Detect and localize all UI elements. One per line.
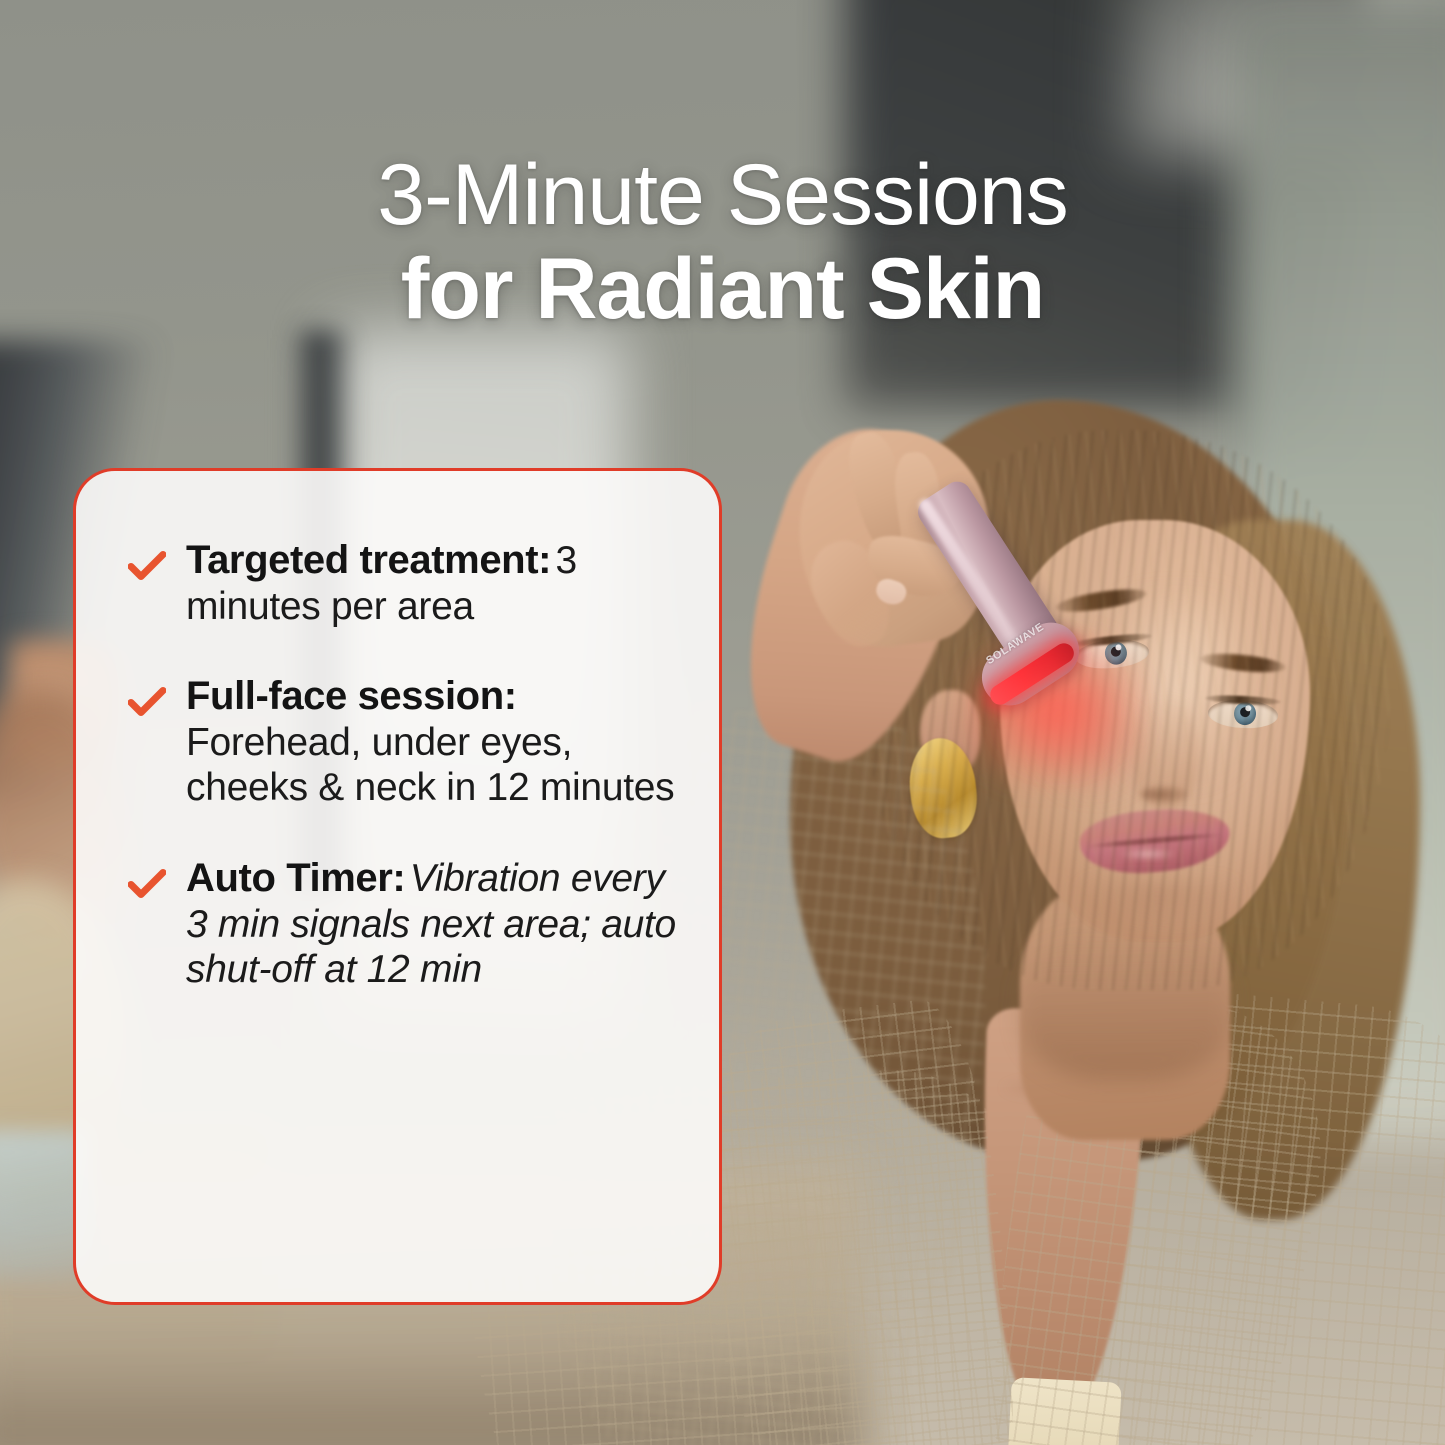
checkmark-icon [128,869,166,899]
feature-text: Targeted treatment: 3 minutes per area [186,537,693,629]
checkmark-icon [128,687,166,717]
feature-item: Targeted treatment: 3 minutes per area [128,537,693,629]
feature-text: Auto Timer: Vibration every 3 min signal… [186,855,693,993]
feature-text: Full-face session: Forehead, under eyes,… [186,673,693,811]
feature-item: Auto Timer: Vibration every 3 min signal… [128,855,693,993]
feature-body: Forehead, under eyes, cheeks & neck in 1… [186,721,674,810]
feature-item: Full-face session: Forehead, under eyes,… [128,673,693,811]
feature-title: Targeted treatment: [186,538,551,582]
feature-title: Auto Timer: [186,856,405,900]
headline-line-2: for Radiant Skin [0,245,1445,334]
page-title: 3-Minute Sessions for Radiant Skin [0,151,1445,334]
headline-line-1: 3-Minute Sessions [0,151,1445,240]
checkmark-icon [128,551,166,581]
feature-card: Targeted treatment: 3 minutes per area F… [73,468,722,1305]
feature-list: Targeted treatment: 3 minutes per area F… [76,471,719,1033]
marketing-image: SOLAWAVE 3-Minute Sessions for Radiant S… [0,0,1445,1445]
led-glow-inner [1000,660,1120,770]
feature-title: Full-face session: [186,674,517,718]
